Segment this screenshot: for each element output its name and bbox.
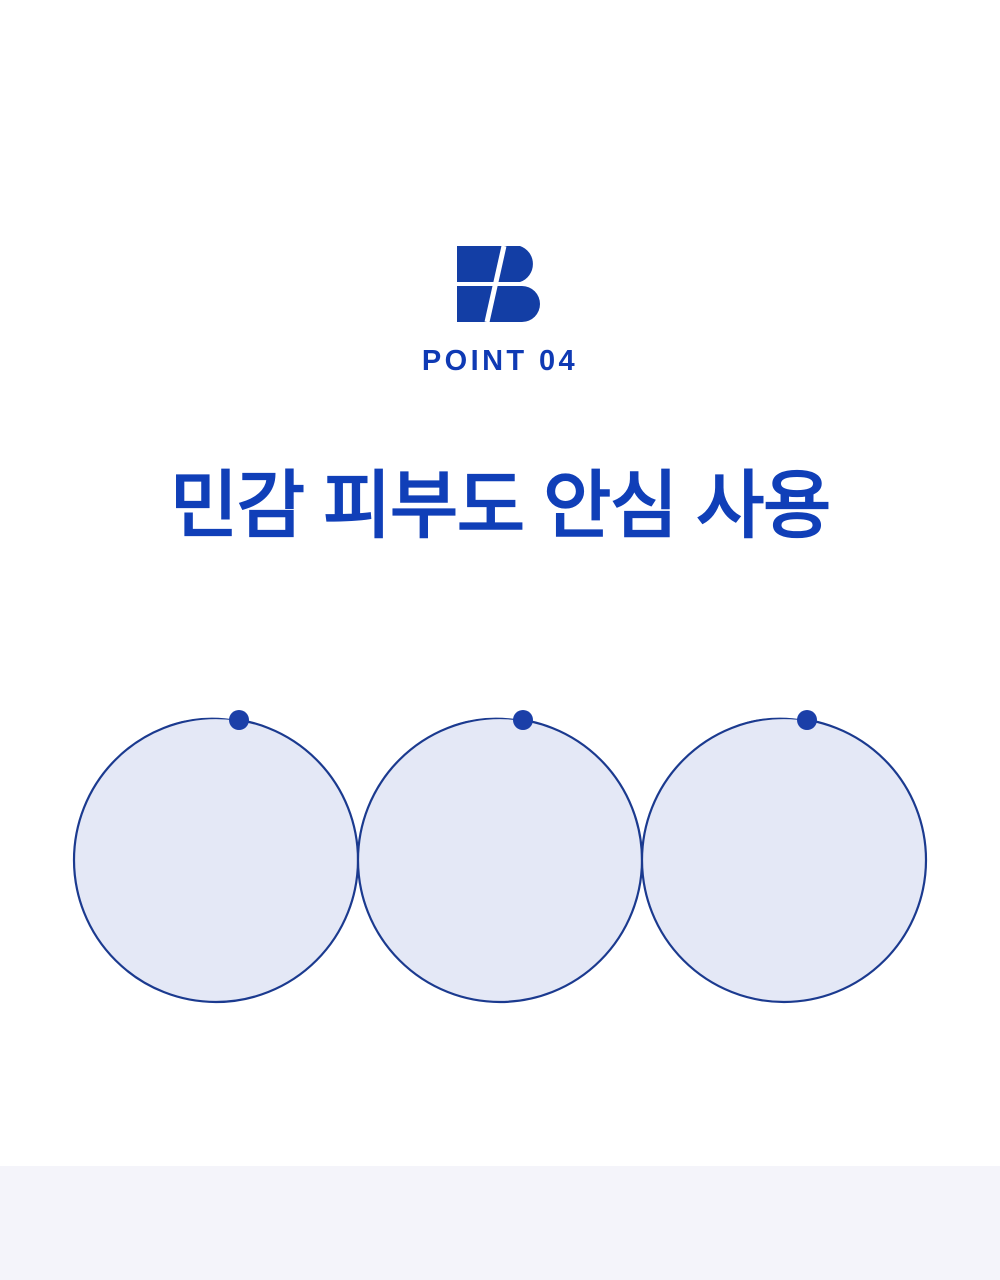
venn-circles-svg <box>0 660 1000 1060</box>
dot-marker-2 <box>513 710 533 730</box>
rb-monogram-logo <box>457 246 543 322</box>
venn-circle-1 <box>74 718 358 1002</box>
dot-marker-3 <box>797 710 817 730</box>
eyebrow-point-label: POINT 04 <box>0 347 1000 376</box>
brand-logo <box>0 246 1000 322</box>
page-title: 민감 피부도 안심 사용 <box>0 466 1000 546</box>
bottom-background-band <box>0 1166 1000 1280</box>
venn-diagram: 하이포 알러제닉 테스트 완료 민감성 피부 사용 적합 테스트 완료 논코메도… <box>0 660 1000 1060</box>
venn-circle-2 <box>358 718 642 1002</box>
venn-circle-3 <box>642 718 926 1002</box>
promo-page: POINT 04 민감 피부도 안심 사용 하이포 알러제닉 테스트 완료 <box>0 0 1000 1280</box>
dot-marker-1 <box>229 710 249 730</box>
